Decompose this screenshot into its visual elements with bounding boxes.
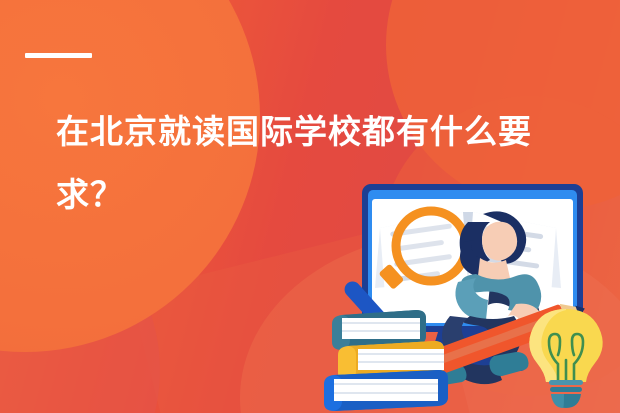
lightbulb-icon [529, 309, 602, 408]
promo-banner: 在北京就读国际学校都有什么要求？ [0, 0, 620, 413]
book-bottom [324, 370, 448, 411]
accent-rule [25, 53, 92, 58]
online-learning-illustration [318, 170, 620, 413]
